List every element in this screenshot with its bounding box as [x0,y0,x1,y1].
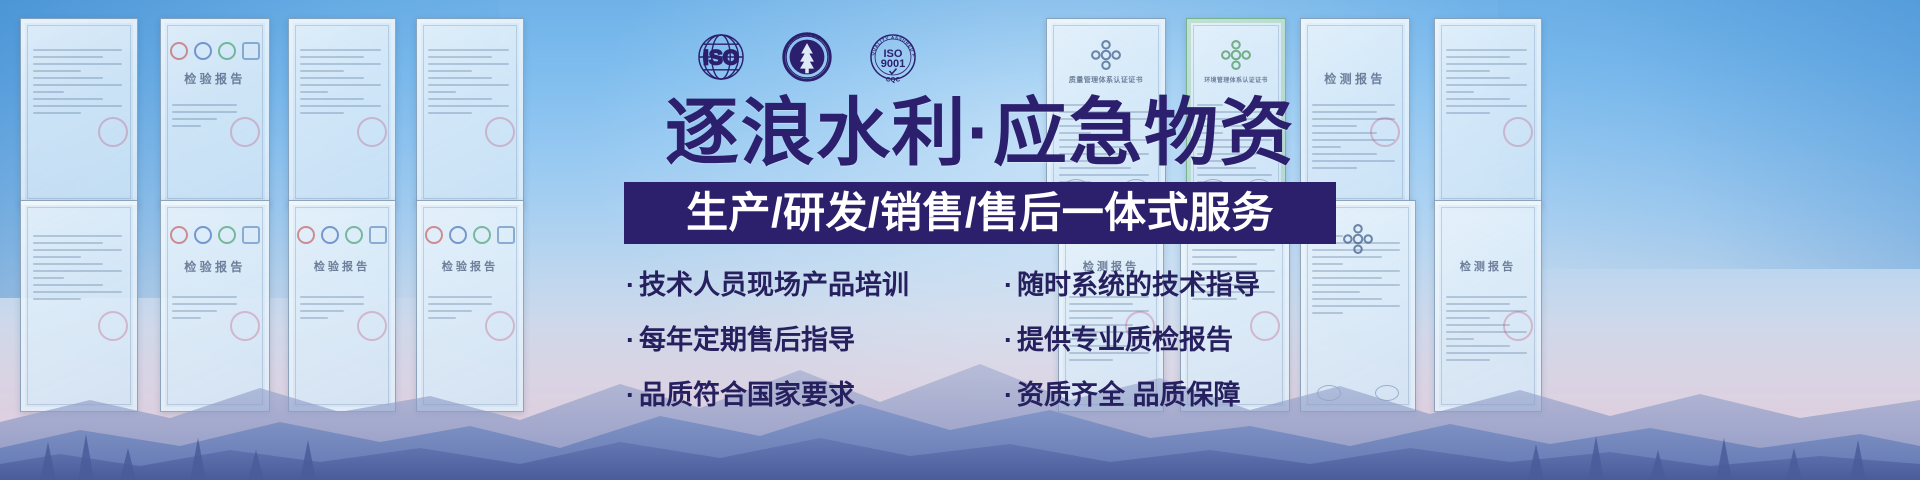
certificate-text-line [33,270,122,272]
feature-item: ·资质齐全 品质保障 [980,380,1342,411]
certificate-text-line [33,298,81,300]
certificate-card [288,18,396,206]
accreditation-mark-icon [345,226,363,244]
certificate-text-line [300,112,344,114]
bullet-icon: · [626,327,635,354]
feature-list: ·技术人员现场产品培训·随时系统的技术指导·每年定期售后指导·提供专业质检报告·… [618,270,1342,411]
certificate-text-line [300,49,381,51]
certificate-card: 检验报告 [160,18,270,206]
certificate-heading: 检验报告 [425,258,514,274]
feature-label: 技术人员现场产品培训 [639,270,909,301]
subtitle-text: 生产/研发/销售/售后一体式服务 [686,192,1274,234]
certificate-stamp-icon [485,117,515,147]
certificate-logo-row [295,226,388,244]
page-title: 逐浪水利·应急物资 [600,96,1360,170]
certificate-text-line [428,49,509,51]
certificate-text-line [1446,98,1510,100]
certificate-text-lines [33,235,126,305]
certificate-text-line [1446,324,1510,326]
certificate-text-line [33,84,122,86]
certificate-text-line [33,256,81,258]
accreditation-mark-icon [194,42,212,60]
certificate-text-line [33,291,122,293]
certificate-text-line [428,77,492,79]
feature-label: 每年定期售后指导 [639,325,855,356]
certificate-text-line [300,63,381,65]
certificate-text-line [33,70,81,72]
certificate-text-line [172,310,217,312]
certificate-text-line [33,235,122,237]
certificate-text-line [33,242,104,244]
feature-label: 资质齐全 品质保障 [1017,380,1241,411]
certificate-text-line [428,56,492,58]
certificate-text-lines [33,49,126,119]
certificate-text-line [300,310,344,312]
certificate-text-line [428,91,457,93]
certificate-text-line [172,104,238,106]
certificate-text-line [428,105,509,107]
iso-badge-row: ISO ISO 14000 环境管理 [692,28,922,86]
certificate-text-line [33,63,122,65]
svg-text:9001: 9001 [881,58,906,70]
certificate-text-line [1446,70,1490,72]
certificate-logo-row [423,226,516,244]
certificate-text-line [428,303,492,305]
accreditation-mark-icon [449,226,467,244]
certificate-text-line [300,70,344,72]
certificate-text-line [1446,105,1527,107]
feature-item: ·提供专业质检报告 [980,325,1342,356]
banner-content: ISO ISO 14000 环境管理 [600,0,1360,480]
certificate-text-line [300,91,329,93]
certificate-text-line [1446,317,1490,319]
certificate-text-line [300,77,364,79]
certificate-logo-row [167,226,262,244]
certificate-text-line [1446,49,1527,51]
certificate-text-line [1446,63,1527,65]
certificate-text-line [428,98,492,100]
certificate-heading: 检测报告 [1443,258,1532,274]
certificate-card [20,18,138,206]
bullet-icon: · [1004,327,1013,354]
subtitle-band: 生产/研发/销售/售后一体式服务 [624,182,1336,244]
certificate-text-lines [1446,49,1531,119]
certificate-text-line [33,77,104,79]
certificate-text-line [33,249,122,251]
accreditation-mark-icon [242,42,260,60]
certificate-text-line [172,303,238,305]
promo-banner: 检验报告质量管理体系认证证书环境管理体系认证证书检测报告检验报告检验报告检验报告… [0,0,1920,480]
feature-label: 品质符合国家要求 [639,380,855,411]
certificate-text-line [33,105,122,107]
iso-globe-badge: ISO [692,28,750,86]
bullet-icon: · [626,272,635,299]
feature-label: 提供专业质检报告 [1017,325,1233,356]
iso-9001-cqc-badge: QUALITY ASSURED FIRM ISO 9001 CQC [864,28,922,86]
certificate-text-line [33,91,65,93]
certificate-text-line [33,49,122,51]
accreditation-mark-icon [425,226,443,244]
certificate-text-line [300,303,364,305]
certificate-text-line [172,317,201,319]
feature-item: ·技术人员现场产品培训 [618,270,980,301]
accreditation-mark-icon [170,42,188,60]
certificate-text-line [428,310,472,312]
certificate-text-line [428,317,457,319]
accreditation-mark-icon [218,226,236,244]
certificate-text-line [428,112,472,114]
certificate-text-lines [300,49,385,119]
certificate-text-line [33,284,104,286]
certificate-heading: 检验报告 [297,258,386,274]
certificate-text-lines [428,49,513,119]
certificate-text-line [428,70,472,72]
feature-label: 随时系统的技术指导 [1017,270,1260,301]
accreditation-mark-icon [170,226,188,244]
certificate-text-line [1446,77,1510,79]
iso-14000-badge: ISO 14000 环境管理 [778,28,836,86]
certificate-text-line [33,98,104,100]
accreditation-mark-icon [321,226,339,244]
certificate-text-line [33,277,65,279]
accreditation-mark-icon [218,42,236,60]
certificate-text-line [172,296,238,298]
feature-item: ·随时系统的技术指导 [980,270,1342,301]
sky-right-shade [1498,0,1920,269]
certificate-text-line [1446,84,1527,86]
certificate-text-line [300,98,364,100]
certificate-text-line [300,296,364,298]
certificate-text-line [172,111,238,113]
certificate-text-line [33,112,81,114]
certificate-heading: 检验报告 [170,258,261,275]
accreditation-mark-icon [242,226,260,244]
certificate-text-line [428,63,509,65]
bullet-icon: · [626,382,635,409]
certificate-logo-row [167,42,262,60]
certificate-text-line [300,105,381,107]
bullet-icon: · [1004,272,1013,299]
certificate-stamp-icon [357,117,387,147]
feature-item: ·每年定期售后指导 [618,325,980,356]
svg-text:ISO: ISO [703,47,739,70]
accreditation-mark-icon [369,226,387,244]
certificate-stamp-icon [1503,117,1533,147]
certificate-text-line [300,317,329,319]
certificate-text-line [1446,303,1510,305]
certificate-text-line [172,118,217,120]
feature-item: ·品质符合国家要求 [618,380,980,411]
certificate-text-line [172,125,201,127]
certificate-text-line [1446,112,1490,114]
accreditation-mark-icon [194,226,212,244]
certificate-text-line [428,296,492,298]
certificate-stamp-icon [98,117,128,147]
certificate-heading: 检验报告 [170,70,261,87]
certificate-text-line [33,56,104,58]
certificate-card [416,18,524,206]
certificate-text-line [1446,296,1527,298]
svg-text:CQC: CQC [886,76,901,83]
certificate-text-line [300,84,381,86]
certificate-text-line [300,56,364,58]
certificate-text-line [1446,91,1475,93]
certificate-text-line [1446,56,1510,58]
certificate-card [1434,18,1542,206]
accreditation-mark-icon [497,226,515,244]
accreditation-mark-icon [473,226,491,244]
certificate-text-line [428,84,509,86]
accreditation-mark-icon [297,226,315,244]
certificate-text-line [33,263,104,265]
bullet-icon: · [1004,382,1013,409]
